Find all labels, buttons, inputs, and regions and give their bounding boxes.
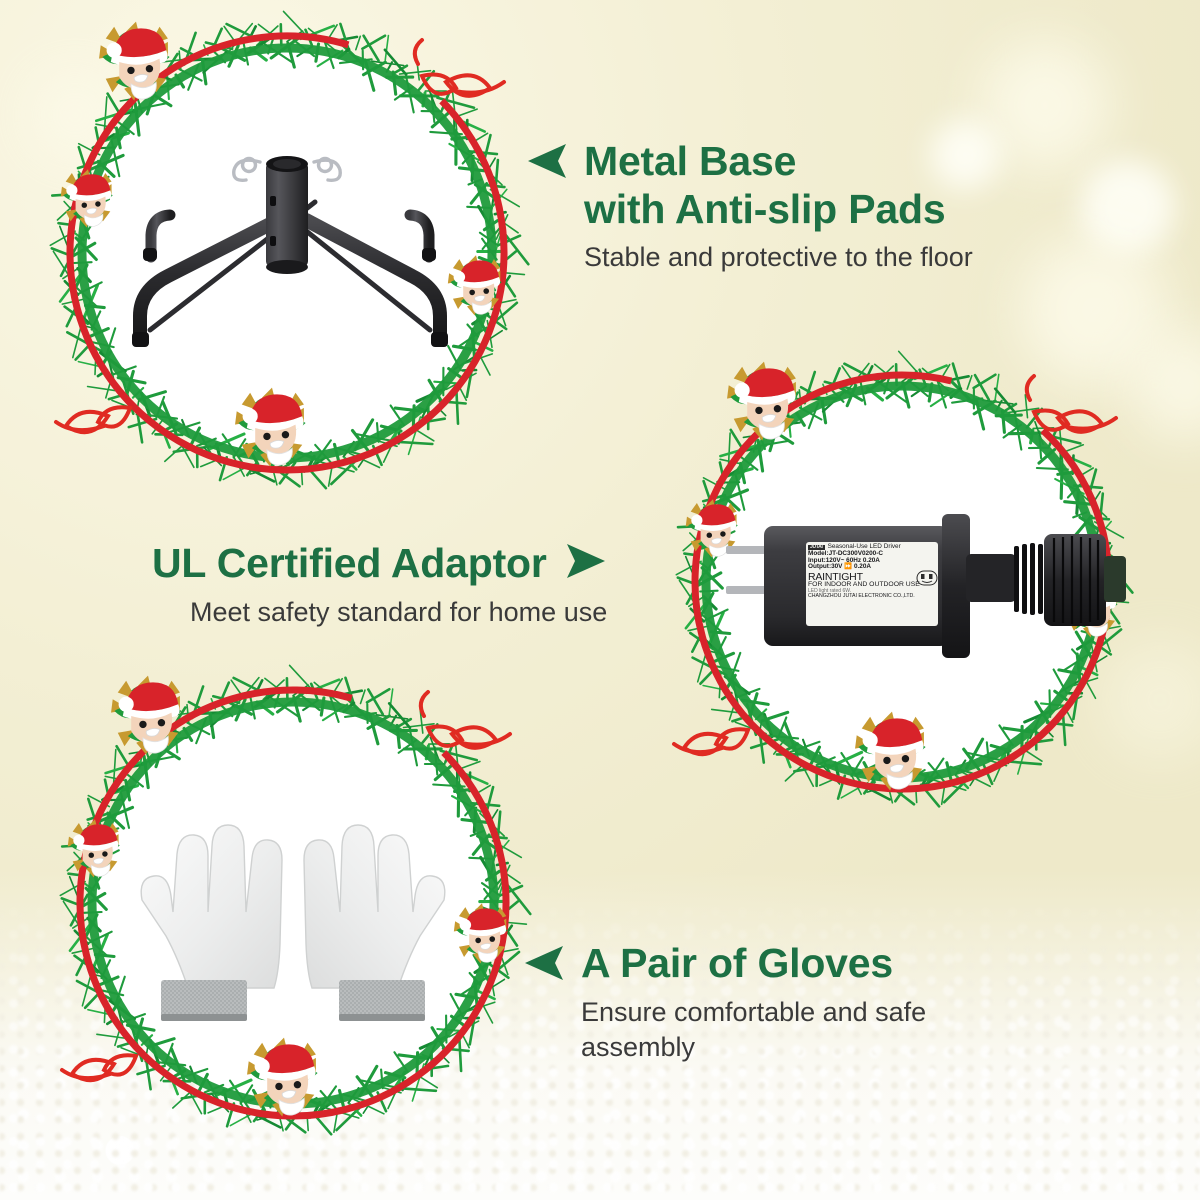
left-arrow-icon — [528, 144, 568, 183]
wing-screw — [314, 159, 340, 181]
feature-headline: A Pair of Gloves — [581, 940, 926, 988]
christmas-tree-metal-stand — [110, 140, 470, 355]
santa-face-ornament — [64, 818, 126, 880]
santa-face-ornament — [450, 902, 514, 966]
certification-mark-icon — [916, 570, 938, 586]
santa-face-ornament — [242, 1036, 326, 1120]
feature-subline: Ensure comfortable and safe assembly — [581, 995, 926, 1065]
santa-face-ornament — [230, 386, 314, 470]
ribbon-bow-icon — [62, 1055, 136, 1080]
feature-headline: Metal Base with Anti-slip Pads — [584, 138, 973, 233]
anti-slip-pad — [431, 332, 448, 347]
anti-slip-pad — [422, 248, 436, 261]
wing-screw — [234, 159, 260, 181]
brand-mark: JUTAI — [808, 545, 825, 550]
feature-text-ul-adaptor: UL Certified Adaptor Meet safety standar… — [152, 540, 712, 630]
feature-subline: Meet safety standard for home use — [190, 595, 712, 630]
ribbon-bow-icon — [1027, 376, 1116, 432]
feature-subline: Stable and protective to the floor — [584, 240, 973, 275]
pair-of-white-work-gloves — [128, 800, 458, 1030]
anti-slip-pad — [143, 248, 157, 261]
adaptor-label: JUTAI Seasonal-Use LED Driver Model:JT-D… — [808, 544, 936, 624]
label-manufacturer: CHANGZHOU JUTAI ELECTRONIC CO.,LTD. — [808, 594, 936, 599]
santa-face-ornament — [850, 710, 934, 794]
ribbon-bow-icon — [421, 692, 510, 748]
santa-face-ornament — [722, 360, 806, 444]
left-arrow-icon — [525, 946, 565, 985]
ribbon-bow-icon — [56, 407, 130, 432]
ribbon-bow-icon — [415, 40, 504, 96]
led-driver-power-adaptor: JUTAI Seasonal-Use LED Driver Model:JT-D… — [726, 508, 1126, 668]
anti-slip-pad — [132, 332, 149, 347]
santa-face-ornament — [94, 20, 178, 104]
feature-text-gloves: A Pair of Gloves Ensure comfortable and … — [525, 940, 995, 1065]
infographic-canvas: Metal Base with Anti-slip Pads Stable an… — [0, 0, 1200, 1200]
right-arrow-icon — [565, 544, 605, 583]
feature-text-metal-base: Metal Base with Anti-slip Pads Stable an… — [528, 138, 1068, 275]
ribbon-bow-icon — [674, 729, 748, 754]
santa-face-ornament — [106, 674, 190, 758]
glove-right — [304, 825, 445, 1021]
feature-headline: UL Certified Adaptor — [152, 540, 547, 588]
glove-left — [141, 825, 282, 1021]
